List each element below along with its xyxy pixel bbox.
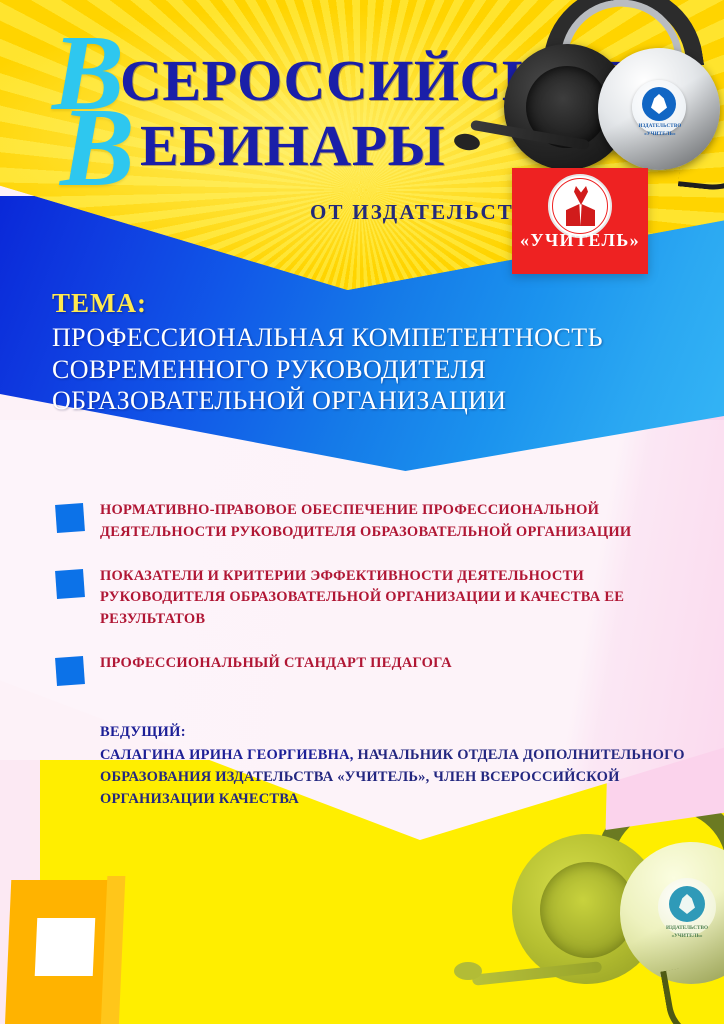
square-bullet-icon [55,656,85,686]
topic-title-line: СОВРЕМЕННОГО РУКОВОДИТЕЛЯ [52,354,692,386]
list-item: НОРМАТИВНО-ПРАВОВОЕ ОБЕСПЕЧЕНИЕ ПРОФЕССИ… [0,500,724,544]
topic-title-line: ПРОФЕССИОНАЛЬНАЯ КОМПЕТЕНТНОСТЬ [52,322,692,354]
headset-bottom-graphic: ИЗДАТЕЛЬСТВО «УЧИТЕЛЬ» [452,798,724,1024]
headset-bottom-badge-emblem-icon [669,886,705,922]
list-item: ПОКАЗАТЕЛИ И КРИТЕРИИ ЭФФЕКТИВНОСТИ ДЕЯТ… [0,566,724,631]
headphones-top-graphic: ИЗДАТЕЛЬСТВО «УЧИТЕЛЬ» [498,0,724,193]
headset-bottom-badge-label: ИЗДАТЕЛЬСТВО «УЧИТЕЛЬ» [654,924,720,941]
square-bullet-icon [55,569,85,599]
presenter-label: ВЕДУЩИЙ: [100,722,700,744]
list-item-label: НОРМАТИВНО-ПРАВОВОЕ ОБЕСПЕЧЕНИЕ ПРОФЕССИ… [100,500,672,544]
headphones-top-cable [678,140,724,193]
agenda-list: НОРМАТИВНО-ПРАВОВОЕ ОБЕСПЕЧЕНИЕ ПРОФЕССИ… [0,500,724,709]
topic-label: ТЕМА: [52,288,147,319]
headset-bottom-cable [660,961,724,1024]
publisher-line: ОТ ИЗДАТЕЛЬСТВА [310,200,546,225]
headset-bottom-mic-tip [454,962,482,980]
list-item: ПРОФЕССИОНАЛЬНЫЙ СТАНДАРТ ПЕДАГОГА [0,653,724,687]
headphones-top-badge-emblem-icon [642,87,676,121]
notebook-label-graphic [35,918,96,976]
headphones-top-badge-label: ИЗДАТЕЛЬСТВО «УЧИТЕЛЬ» [630,123,690,138]
presenter-details: САЛАГИНА ИРИНА ГЕОРГИЕВНА, НАЧАЛЬНИК ОТД… [100,744,700,810]
masthead-line-2: ЕБИНАРЫ [140,112,445,179]
publisher-logo-name: «УЧИТЕЛЬ» [512,230,648,251]
drop-cap-v-second: В [60,92,135,204]
presenter-name: САЛАГИНА ИРИНА ГЕОРГИЕВНА, [100,747,354,763]
topic-title: ПРОФЕССИОНАЛЬНАЯ КОМПЕТЕНТНОСТЬ СОВРЕМЕН… [52,322,692,417]
presenter-block: ВЕДУЩИЙ: САЛАГИНА ИРИНА ГЕОРГИЕВНА, НАЧА… [100,722,700,810]
list-item-label: ПОКАЗАТЕЛИ И КРИТЕРИИ ЭФФЕКТИВНОСТИ ДЕЯТ… [100,566,672,631]
list-item-label: ПРОФЕССИОНАЛЬНЫЙ СТАНДАРТ ПЕДАГОГА [100,653,672,675]
webinar-poster: ИЗДАТЕЛЬСТВО «УЧИТЕЛЬ» НОРМАТИВНО-ПРАВОВ… [0,0,724,1024]
square-bullet-icon [55,503,85,533]
topic-title-line: ОБРАЗОВАТЕЛЬНОЙ ОРГАНИЗАЦИИ [52,385,692,417]
